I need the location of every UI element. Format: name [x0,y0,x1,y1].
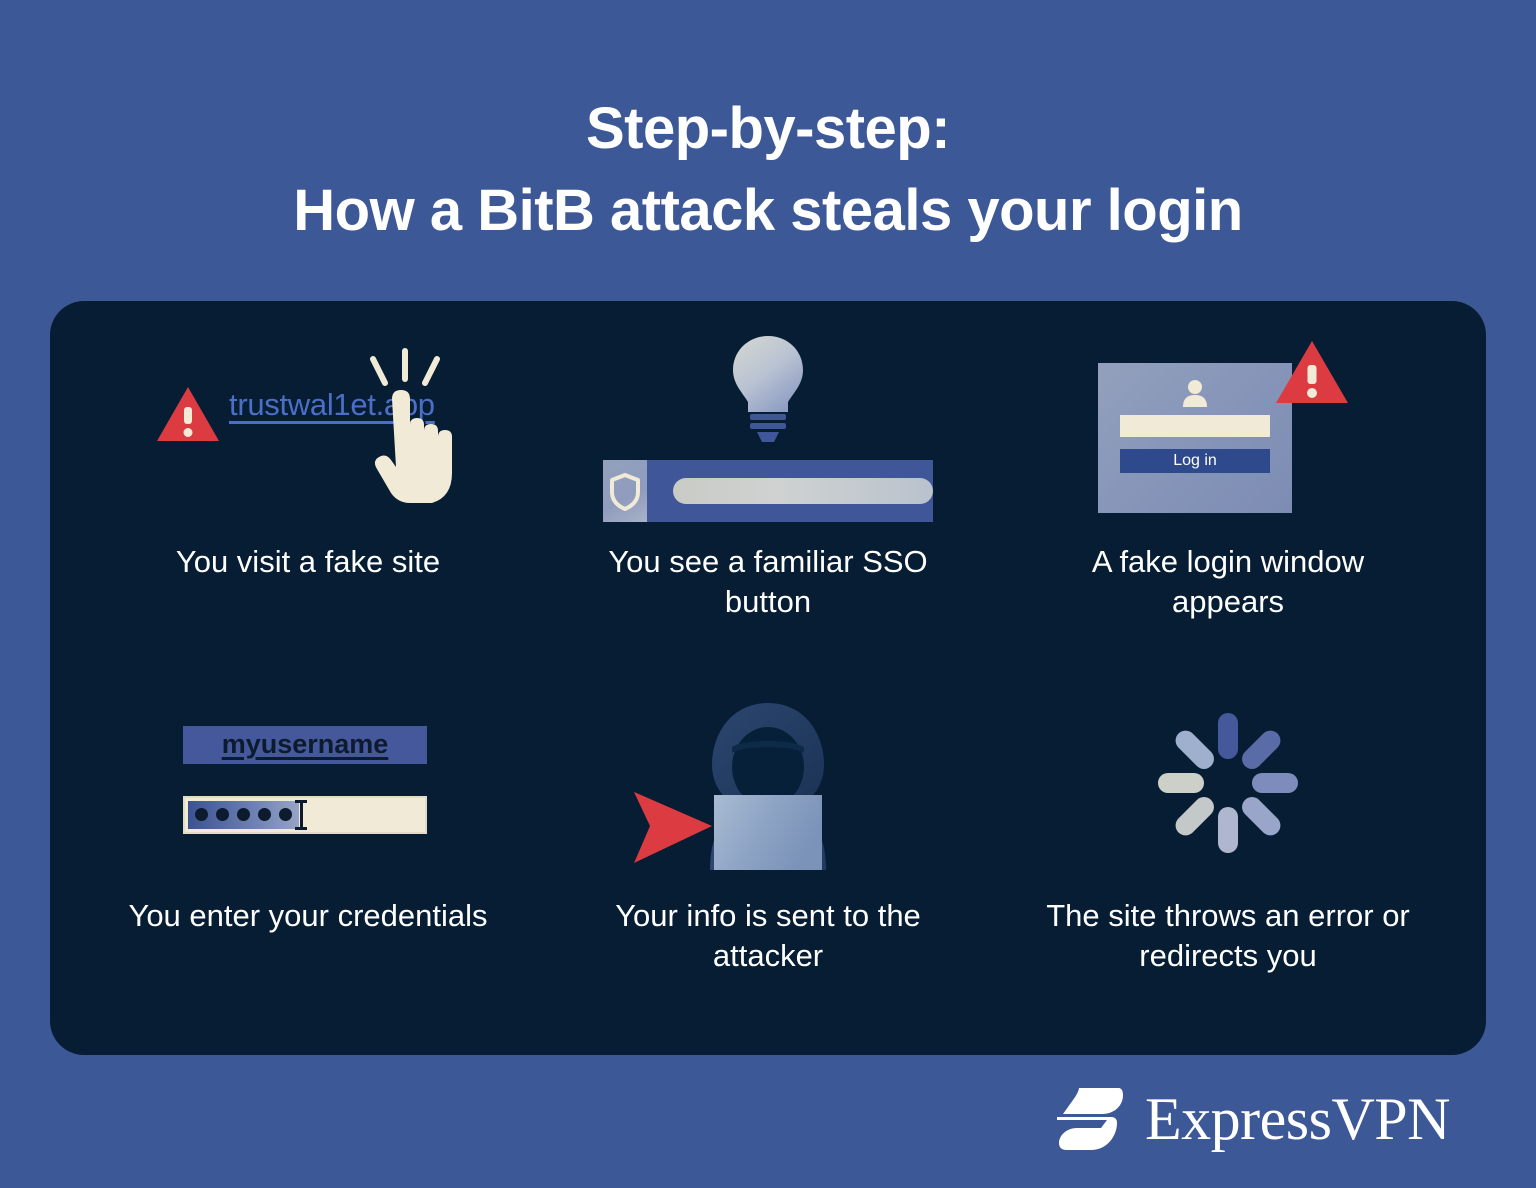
steps-grid: trustwal1et.app You visit a fake site [50,301,1486,1055]
steps-card: trustwal1et.app You visit a fake site [50,301,1486,1055]
warning-triangle-icon [1276,341,1348,403]
step-attacker-art [538,675,998,890]
step-sso-art [538,321,998,536]
step-fake-login-window: Log in A fake login window appears [998,321,1458,675]
text-cursor-icon [295,800,307,830]
spinner-blade [1238,726,1285,773]
step-caption: You visit a fake site [176,542,440,582]
hooded-hacker-icon [618,695,918,870]
person-avatar-icon [1181,379,1209,407]
step-caption: You enter your credentials [128,896,487,936]
fake-login-button[interactable]: Log in [1120,449,1270,473]
step-fake-login-art: Log in [998,321,1458,536]
title-line-2: How a BitB attack steals your login [0,170,1536,252]
password-masked-text [188,801,299,829]
step-error-or-redirect: The site throws an error or redirects yo… [998,675,1458,1029]
brand-name: ExpressVPN [1145,1089,1450,1149]
username-value: myusername [222,729,389,760]
sso-label-section [647,460,933,522]
step-credentials-art: myusername [78,675,538,890]
step-spinner-art [998,675,1458,890]
sso-shield-section [603,460,647,522]
lightbulb-icon [729,334,807,446]
step-fake-site: trustwal1et.app You visit a fake site [78,321,538,675]
step-enter-credentials: myusername You enter your crede [78,675,538,1029]
page-title: Step-by-step: How a BitB attack steals y… [0,0,1536,252]
step-caption: The site throws an error or redirects yo… [1038,896,1418,976]
spinner-blade [1171,726,1218,773]
password-dot [195,808,208,821]
step-info-sent-to-attacker: Your info is sent to the attacker [538,675,998,1029]
fake-login-window: Log in [1098,363,1292,513]
expressvpn-e-logomark [1057,1084,1123,1154]
loading-spinner-icon [1153,708,1303,858]
spinner-blade [1218,713,1238,759]
warning-triangle-icon [157,387,219,441]
shield-icon [608,471,642,511]
password-dot [279,808,292,821]
step-caption: A fake login window appears [1038,542,1418,622]
step-sso-button: You see a familiar SSO button [538,321,998,675]
spinner-blade [1218,807,1238,853]
password-dot [216,808,229,821]
sso-button[interactable] [603,460,933,522]
step-caption: Your info is sent to the attacker [578,896,958,976]
spinner-blade [1171,792,1218,839]
spinner-blade [1158,773,1204,793]
sso-label-placeholder-bar [673,478,933,504]
username-input[interactable]: myusername [183,726,427,764]
password-dot [237,808,250,821]
click-hand-cursor-icon [355,347,455,507]
password-input[interactable] [183,796,427,834]
fake-username-input[interactable] [1120,415,1270,437]
title-line-1: Step-by-step: [0,88,1536,170]
step-fake-site-art: trustwal1et.app [78,321,538,536]
expressvpn-logo: ExpressVPN [1057,1084,1450,1154]
step-caption: You see a familiar SSO button [578,542,958,622]
spinner-blade [1238,792,1285,839]
password-dot [258,808,271,821]
spinner-blade [1252,773,1298,793]
